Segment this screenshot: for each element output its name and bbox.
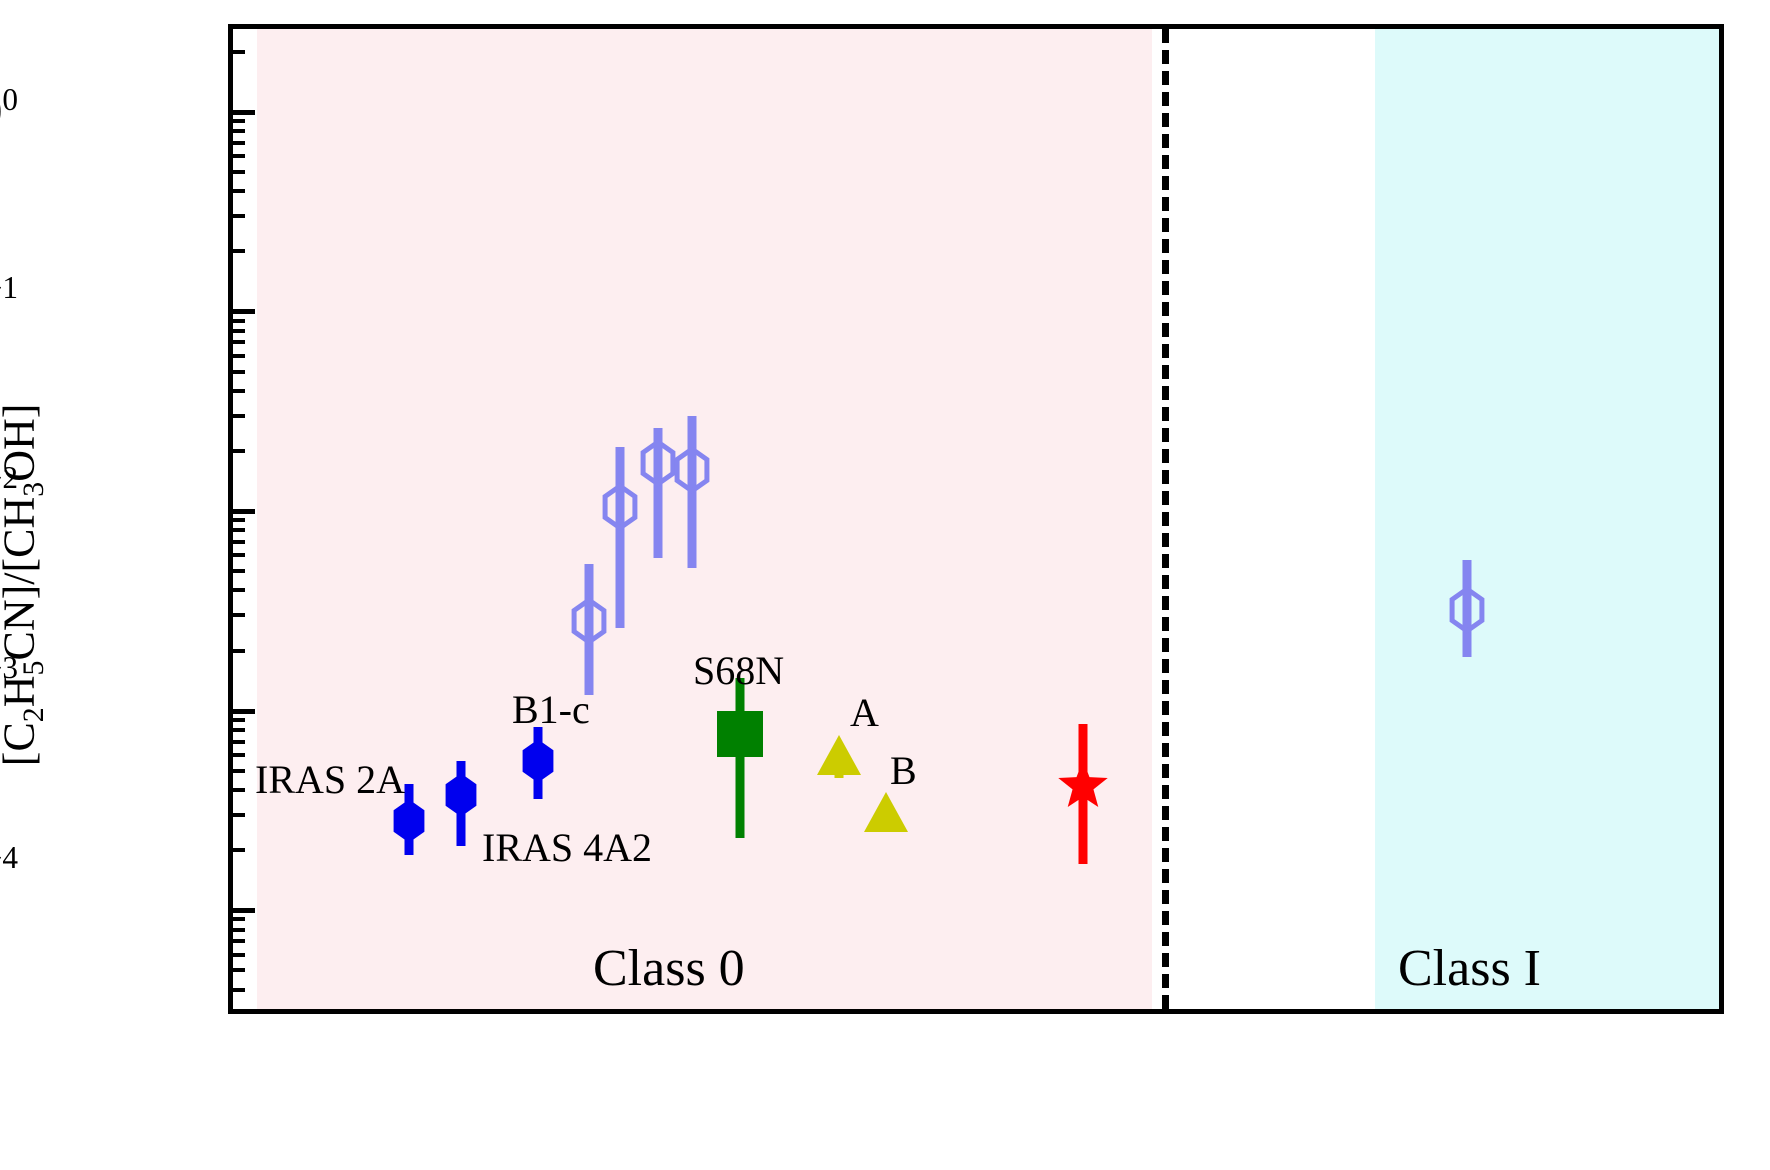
marker-square-filled: [717, 711, 763, 757]
point-label: B1-c: [512, 686, 590, 733]
band-caption-class-0: Class 0: [593, 939, 745, 998]
error-bar: [616, 447, 625, 628]
ytick-label-1e-3: 10−3: [0, 650, 18, 705]
band-caption-class-1: Class I: [1398, 939, 1541, 998]
marker-hexagon-open: [671, 449, 713, 491]
ytick-label-1e-4: 10−4: [0, 840, 18, 895]
data-layer: IRAS 2AIRAS 4A2B1-cS68NAB: [233, 29, 1719, 1009]
error-bar: [736, 678, 745, 838]
ytick-label-1e0: 100: [0, 82, 18, 137]
point-label: B: [890, 747, 917, 794]
marker-hexagon-open: [599, 486, 641, 528]
marker-triangle-filled: [864, 792, 908, 832]
point-label: IRAS 2A: [255, 756, 405, 803]
point-label: S68N: [693, 647, 784, 694]
plot-frame: IRAS 2AIRAS 4A2B1-cS68NAB Class 0 Class …: [228, 24, 1724, 1014]
marker-hexagon-filled: [517, 740, 559, 782]
point-label: A: [850, 689, 879, 736]
y-axis-label: [C2H5CN]/[CH3OH]: [0, 0, 52, 1170]
y-axis-label-text: [C2H5CN]/[CH3OH]: [0, 404, 51, 767]
marker-triangle-filled: [817, 735, 861, 775]
marker-hexagon-filled: [388, 800, 430, 842]
marker-hexagon-filled: [440, 774, 482, 816]
plot-area: IRAS 2AIRAS 4A2B1-cS68NAB Class 0 Class …: [233, 29, 1719, 1009]
ytick-label-1e-1: 10−1: [0, 270, 18, 325]
point-label: IRAS 4A2: [482, 824, 652, 871]
figure-canvas: [C2H5CN]/[CH3OH] 100 10−1 10−2 10−3 10−4…: [0, 0, 1770, 1170]
marker-star-filled: [1057, 760, 1109, 812]
marker-hexagon-open: [1446, 589, 1488, 631]
ytick-label-1e-2: 10−2: [0, 460, 18, 515]
marker-hexagon-open: [568, 600, 610, 642]
